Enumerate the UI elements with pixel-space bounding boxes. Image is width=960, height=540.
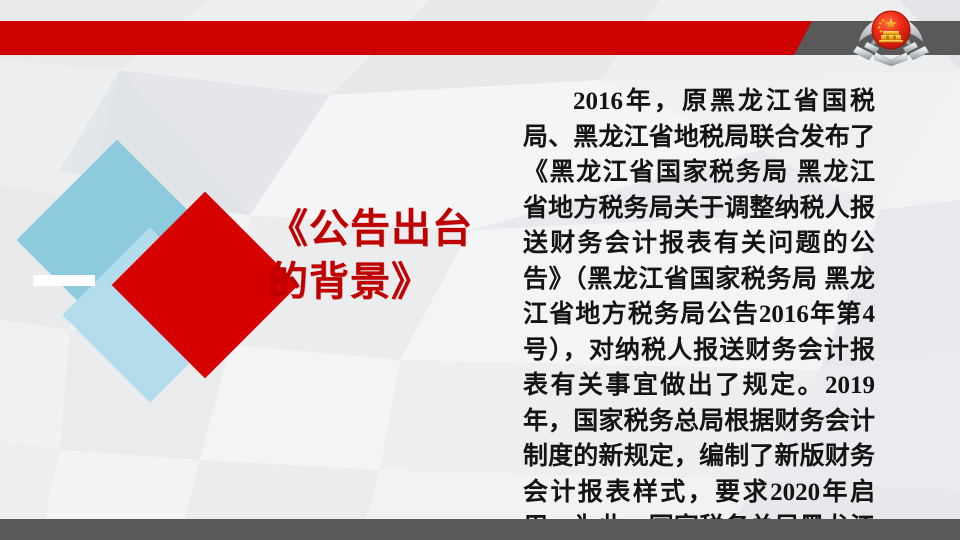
china-taxation-emblem bbox=[845, 2, 937, 66]
page-title: 《公告出台的背景》 bbox=[268, 202, 488, 308]
body-paragraph: 2016年，原黑龙江省国税局、黑龙江省地税局联合发布了《黑龙江省国家税务局 黑龙… bbox=[523, 84, 875, 540]
top-red-bar bbox=[0, 21, 812, 55]
bottom-gray-bar bbox=[0, 519, 960, 540]
white-dash-accent bbox=[33, 275, 95, 286]
slide-canvas: 《公告出台的背景》 2016年，原黑龙江省国税局、黑龙江省地税局联合发布了《黑龙… bbox=[0, 0, 960, 540]
